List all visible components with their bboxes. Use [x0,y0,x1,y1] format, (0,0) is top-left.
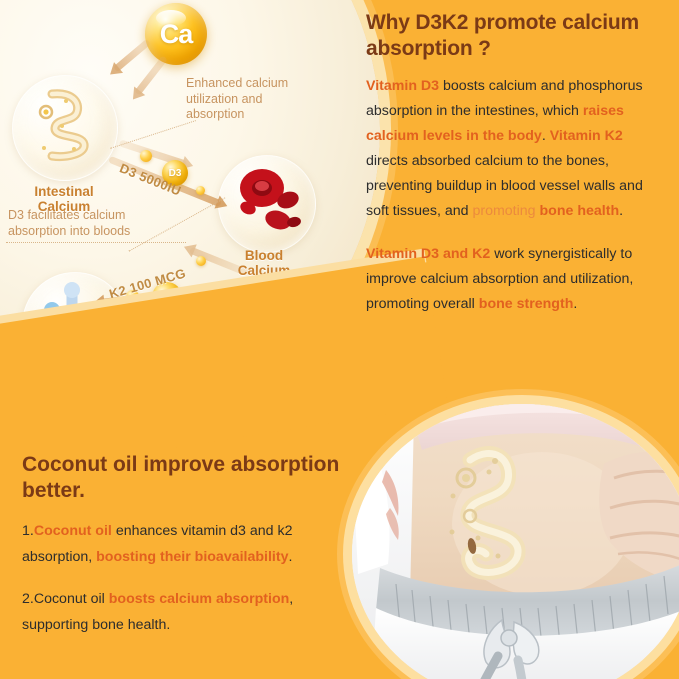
connector-d3-note [6,242,186,243]
abdomen-photo-illustration [352,404,679,679]
arrow-ca-to-intestine-2 [134,55,168,96]
arrow-ca-to-intestine-1 [113,39,151,73]
blood-cells-icon [228,164,306,242]
note-d3-facilitates: D3 facilitates calcium absorption into b… [8,208,188,239]
intestine-icon [22,86,104,166]
calcium-molecule-badge: Ca [145,3,207,65]
bottom-text-column: Coconut oil improve absorption better. 1… [22,452,352,654]
right-paragraph-2: Vitamin D3 and K2 work synergistically t… [366,242,666,317]
coconut-item-2: 2.Coconut oil boosts calcium absorption,… [22,586,352,638]
infographic-page: Ca D3 K2 Intestinal Calcium [0,0,679,679]
bottom-panel-heading: Coconut oil improve absorption better. [22,452,352,504]
abdomen-photo [352,404,679,679]
right-text-column: Why D3K2 promote calcium absorption ? Vi… [366,10,666,335]
right-paragraph-1: Vitamin D3 boosts calcium and phosphorus… [366,74,666,224]
connector-enhanced [110,120,196,149]
coconut-item-1: 1.Coconut oil enhances vitamin d3 and k2… [22,518,352,570]
right-panel-heading: Why D3K2 promote calcium absorption ? [366,10,666,62]
note-enhanced-absorption: Enhanced calcium utilization and absorpt… [186,76,326,123]
